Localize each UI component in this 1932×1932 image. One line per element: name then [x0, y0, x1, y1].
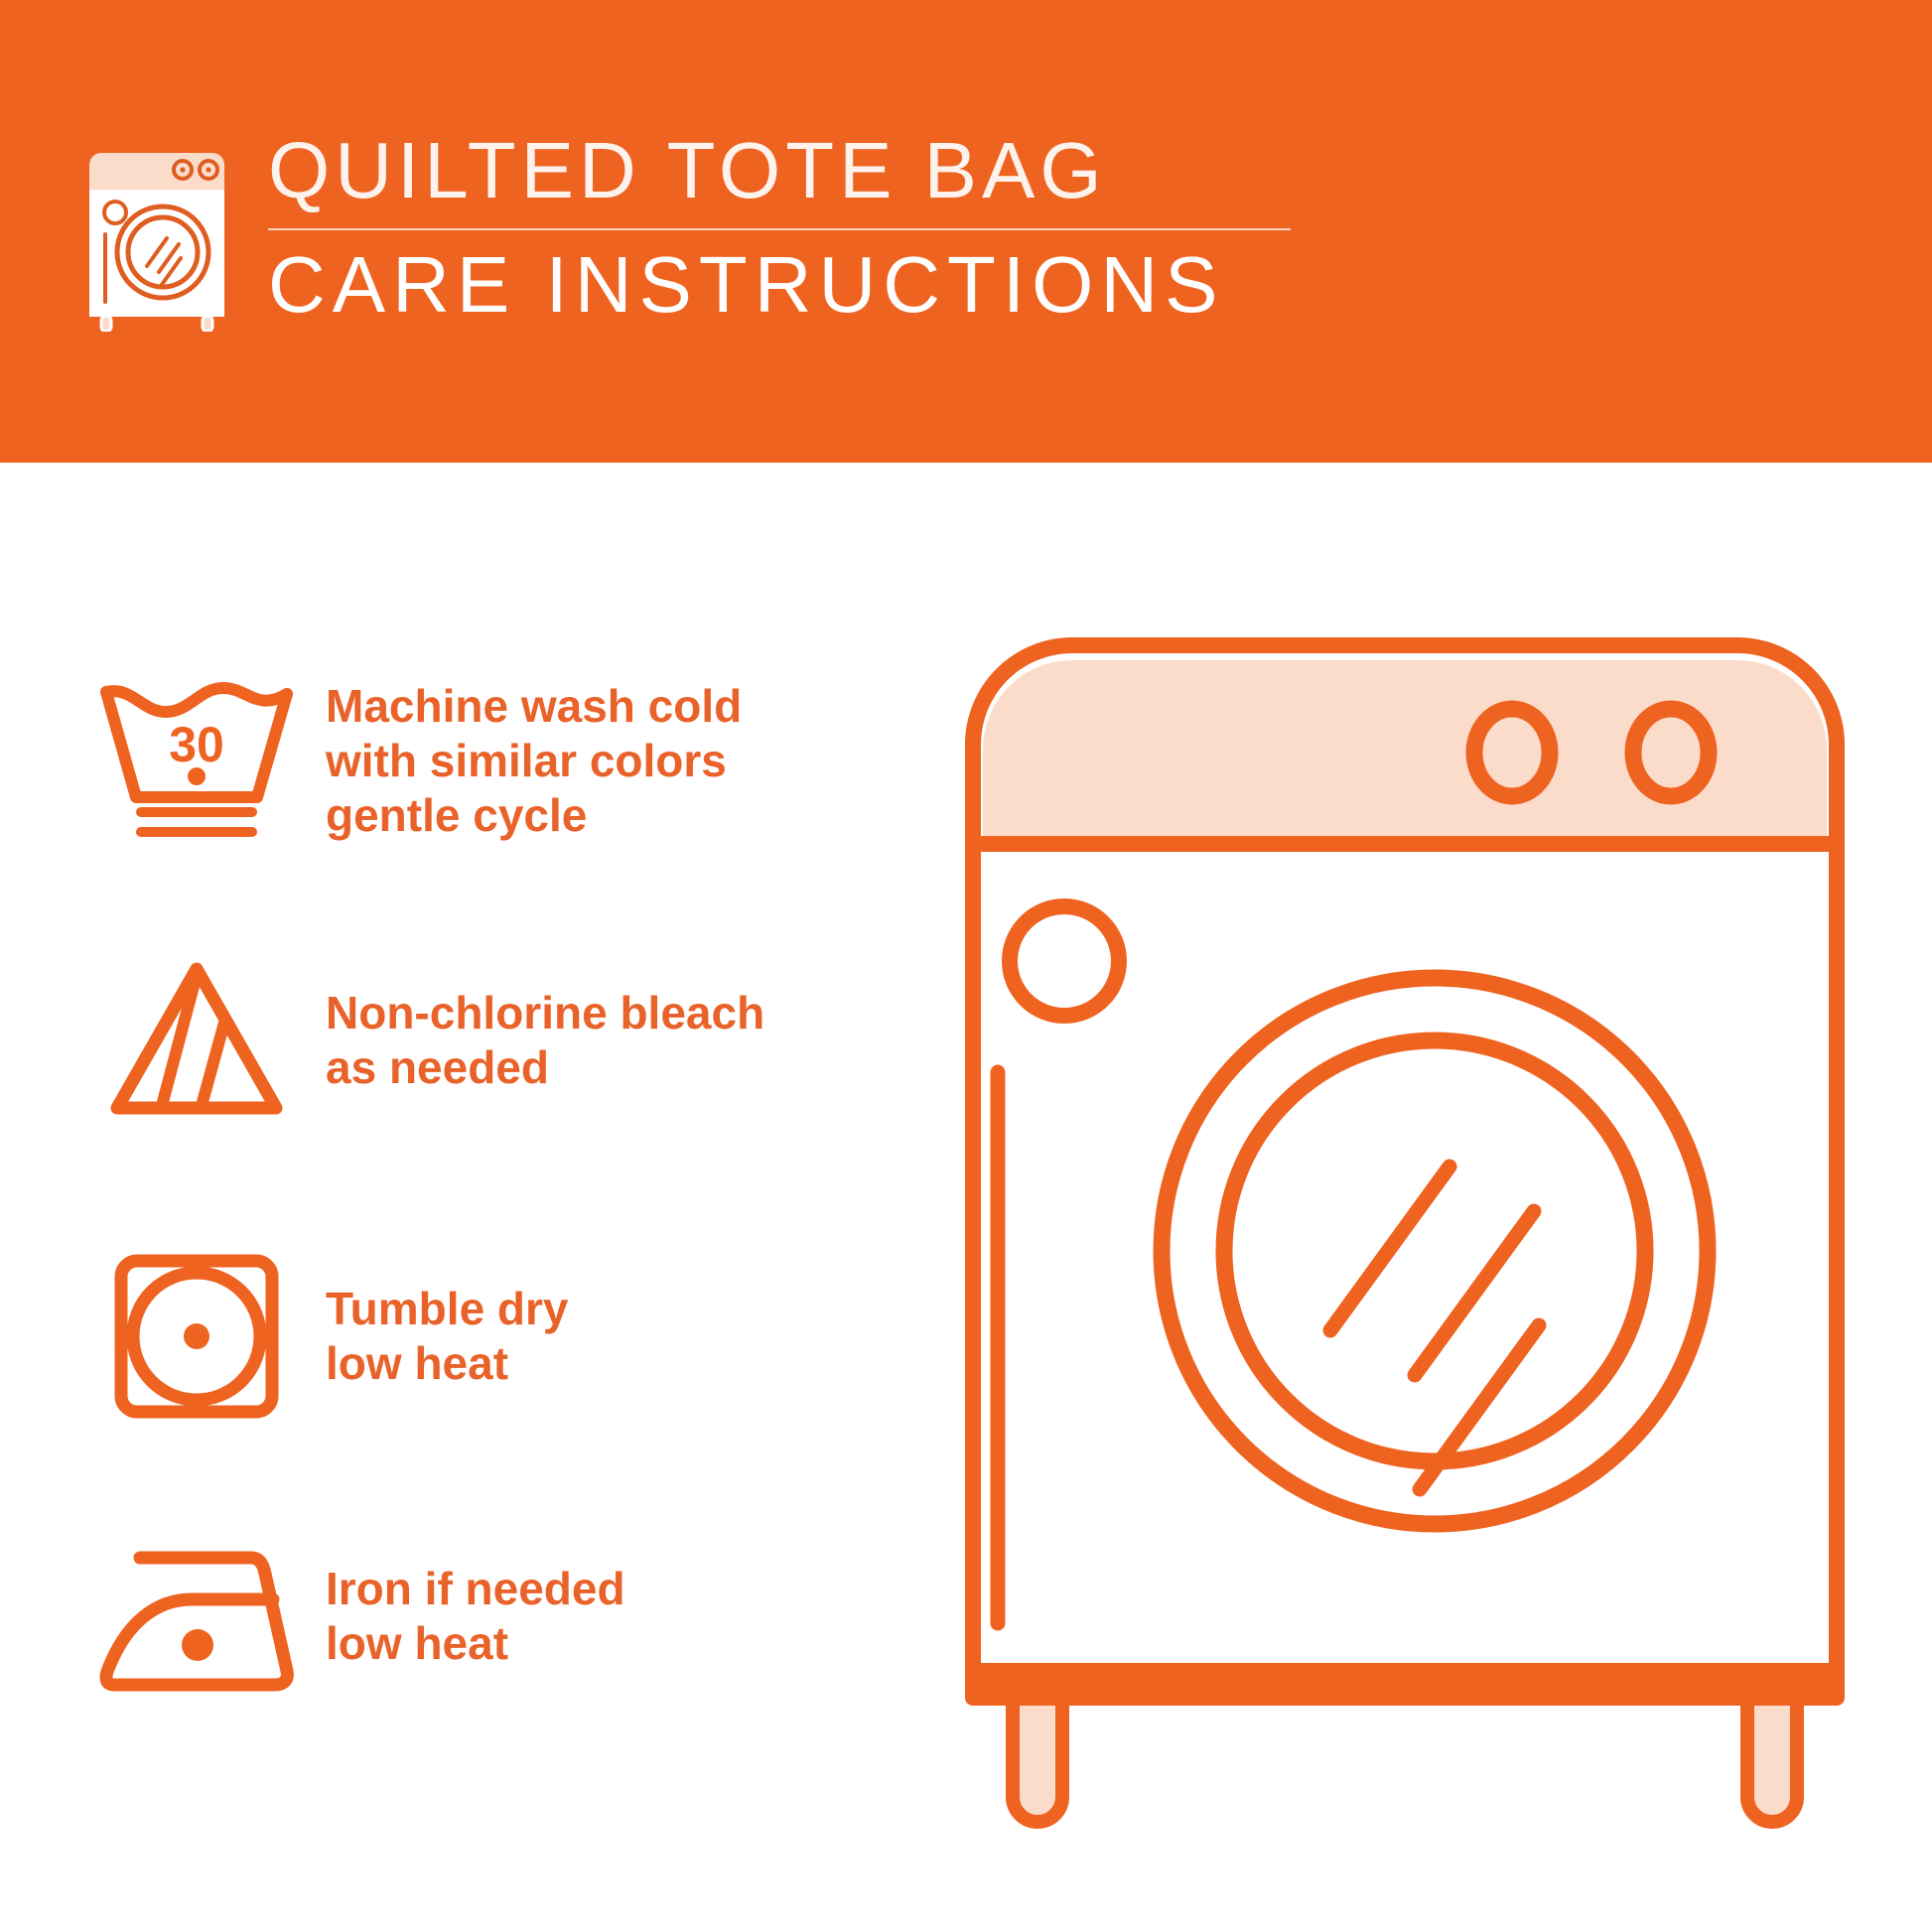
care-item-bleach-label: Non-chlorine bleach as needed — [326, 986, 764, 1095]
header-content: QUILTED TOTE BAG CARE INSTRUCTIONS — [79, 129, 1291, 332]
care-line: Tumble dry — [326, 1282, 569, 1336]
care-line: as needed — [326, 1040, 764, 1095]
page-subtitle: CARE INSTRUCTIONS — [268, 242, 1291, 328]
header-title-block: QUILTED TOTE BAG CARE INSTRUCTIONS — [268, 129, 1291, 328]
tumble-dry-dot-icon — [184, 1323, 209, 1349]
wash-tub-icon: 30 — [92, 676, 301, 845]
title-divider — [268, 228, 1291, 230]
care-line: Machine wash cold — [326, 679, 742, 734]
bleach-triangle-icon — [97, 951, 296, 1130]
bleach-triangle-icon-wrap — [89, 941, 304, 1140]
care-line: low heat — [326, 1336, 569, 1391]
care-line: low heat — [326, 1616, 625, 1671]
page-header: QUILTED TOTE BAG CARE INSTRUCTIONS — [0, 0, 1932, 463]
washing-machine-svg — [953, 625, 1876, 1896]
care-line: Iron if needed — [326, 1562, 625, 1616]
care-item-iron: Iron if needed low heat — [89, 1517, 923, 1716]
care-item-tumble-dry: Tumble dry low heat — [89, 1237, 923, 1436]
wash-dot-icon — [188, 767, 206, 785]
care-item-bleach: Non-chlorine bleach as needed — [89, 941, 923, 1140]
care-item-wash-label: Machine wash cold with similar colors ge… — [326, 679, 742, 843]
iron-dot-icon — [182, 1629, 213, 1661]
tumble-dry-icon-wrap — [89, 1237, 304, 1436]
care-line: with similar colors — [326, 734, 742, 788]
iron-icon-wrap — [89, 1517, 304, 1716]
care-item-iron-label: Iron if needed low heat — [326, 1562, 625, 1671]
care-item-tumble-dry-label: Tumble dry low heat — [326, 1282, 569, 1391]
care-line: Non-chlorine bleach — [326, 986, 764, 1040]
machine-base-bar — [973, 1663, 1837, 1701]
care-line: gentle cycle — [326, 788, 742, 843]
washing-machine-icon — [79, 143, 234, 332]
page-title: QUILTED TOTE BAG — [268, 129, 1291, 212]
washing-machine-illustration — [953, 625, 1876, 1896]
wash-tub-icon-wrap: 30 — [89, 661, 304, 860]
care-item-wash: 30 Machine wash cold with similar colors… — [89, 661, 923, 860]
iron-icon — [92, 1532, 301, 1701]
tumble-dry-icon — [107, 1247, 286, 1426]
wash-temperature-label: 30 — [169, 717, 224, 772]
